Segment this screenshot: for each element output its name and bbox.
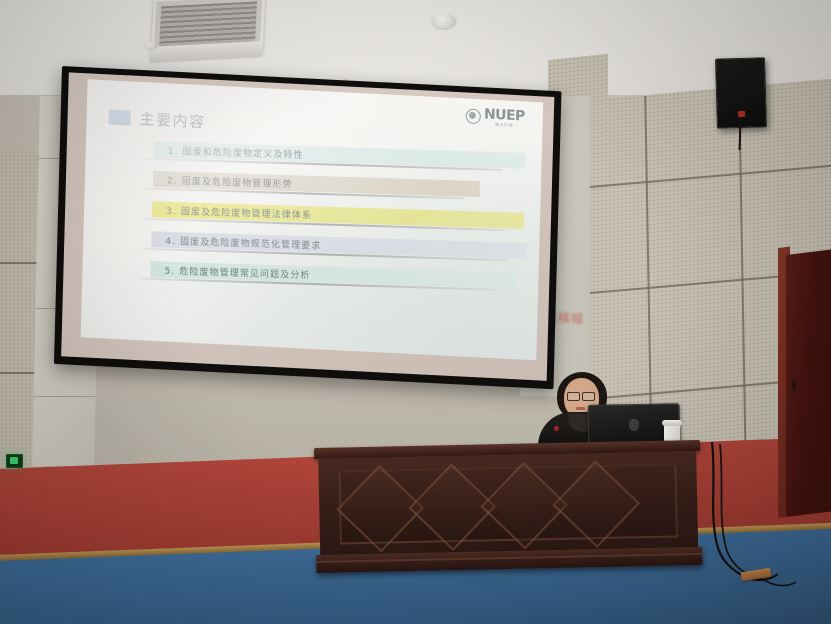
slide-logo: NUEP 南大环保 (466, 106, 525, 128)
circular-emblem-icon (466, 108, 481, 124)
wall-seam (34, 396, 96, 397)
door-handle-icon[interactable] (792, 380, 796, 391)
podium-inner-frame (338, 463, 677, 544)
slide-agenda-list: 1. 固废和危险废物定义及特性 2. 固废及危险废物管理形势 3. 固废及危险废… (150, 138, 526, 307)
presentation-slide: NUEP 南大环保 主要内容 1. 固废和危险废物定义及特性 2. 固废及 (81, 79, 544, 360)
agenda-label-1: 1. 固废和危险废物定义及特性 (168, 143, 304, 160)
podium (314, 440, 703, 578)
wall-speaker-icon (715, 57, 767, 128)
slide-title: 主要内容 (139, 108, 206, 132)
presenter-badge-icon (554, 426, 559, 431)
podium-diamond-motif (552, 460, 640, 548)
downlight-icon (432, 14, 456, 28)
glasses-icon (567, 392, 595, 399)
agenda-label-2: 2. 固废及危险废物管理形势 (167, 173, 293, 190)
cup-lid (662, 420, 682, 426)
speaker-brand-logo-icon (738, 111, 745, 117)
slide-title-row: 主要内容 (108, 106, 205, 132)
presenter-mouth (576, 407, 585, 410)
emergency-exit-sign-icon (6, 454, 23, 468)
laptop-brand-logo-icon (629, 419, 639, 431)
downlight-icon (145, 42, 157, 49)
title-bullet-square-icon (108, 109, 130, 125)
projection-screen: NUEP 南大环保 主要内容 1. 固废和危险废物定义及特性 2. 固废及 (54, 66, 562, 389)
podium-front-panel (318, 451, 698, 557)
slide-logo-text: NUEP (484, 107, 525, 123)
lecture-hall-photo: 会议横幅 NUEP 南大环保 主要内容 1 (0, 0, 831, 624)
